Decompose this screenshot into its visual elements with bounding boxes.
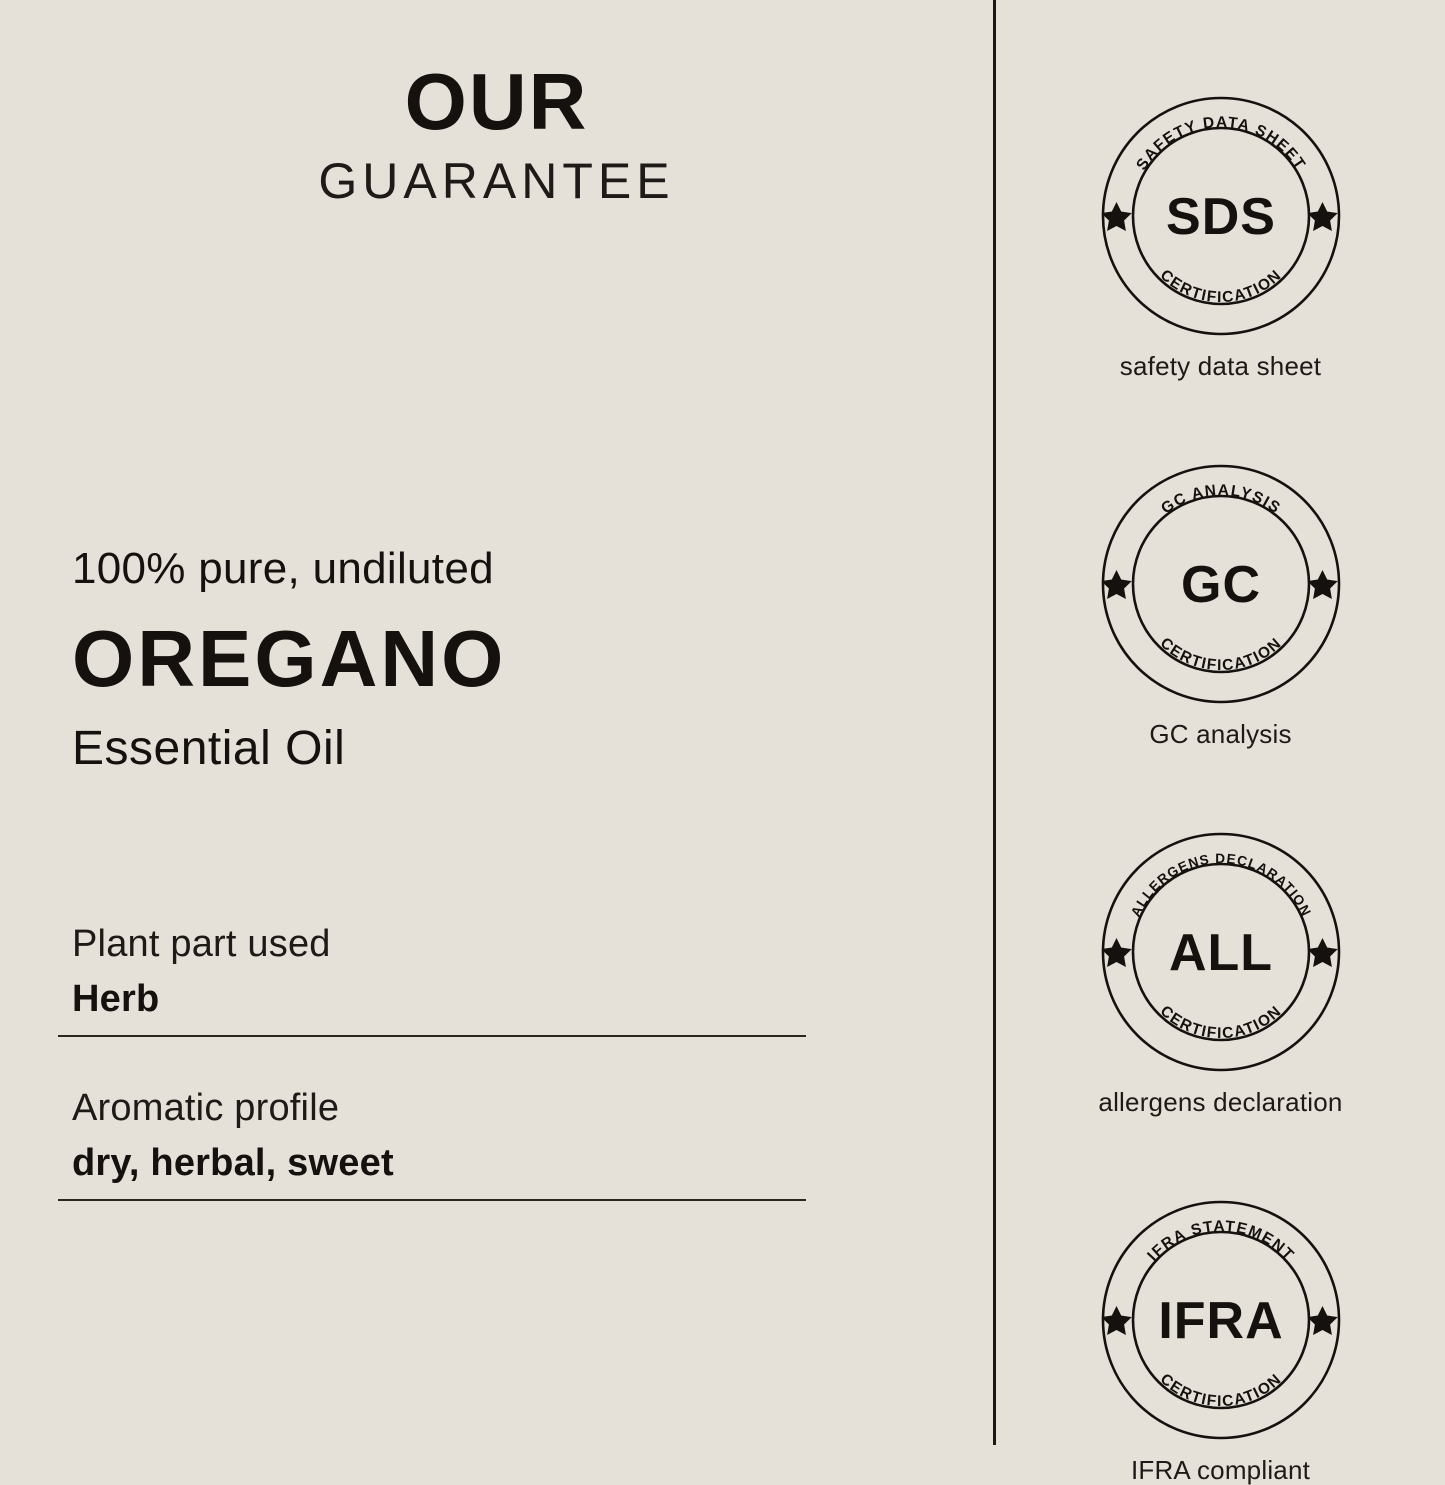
seal-bottom-text: CERTIFICATION — [1156, 1003, 1285, 1043]
svg-text:CERTIFICATION: CERTIFICATION — [1156, 267, 1285, 307]
seal-bottom-text: CERTIFICATION — [1156, 635, 1285, 675]
star-icon — [1307, 1306, 1337, 1335]
page-title-line-1: OUR — [0, 62, 993, 142]
spec-divider — [58, 1035, 806, 1037]
page-title-line-2: GUARANTEE — [0, 156, 993, 206]
svg-text:ALLERGENS DECLARATION: ALLERGENS DECLARATION — [1127, 851, 1313, 919]
star-icon — [1101, 938, 1131, 967]
svg-text:CERTIFICATION: CERTIFICATION — [1156, 635, 1285, 675]
spec-value: Herb — [58, 980, 806, 1018]
badge-caption: IFRA compliant — [996, 1457, 1445, 1483]
page-title: OUR GUARANTEE — [0, 62, 993, 206]
list-item: SAFETY DATA SHEET CERTIFICATION SDS safe… — [996, 96, 1445, 379]
star-icon — [1307, 570, 1337, 599]
spec-row: Plant part used Herb — [58, 925, 806, 1037]
badge-caption: allergens declaration — [996, 1089, 1445, 1115]
star-icon — [1101, 1306, 1131, 1335]
svg-text:CERTIFICATION: CERTIFICATION — [1156, 1371, 1285, 1411]
seal-all-icon: ALLERGENS DECLARATION CERTIFICATION ALL — [1101, 832, 1341, 1072]
seal-center-text: ALL — [1168, 924, 1272, 982]
seal-center-text: SDS — [1166, 188, 1276, 246]
seal-bottom-text: CERTIFICATION — [1156, 1371, 1285, 1411]
product-block: 100% pure, undiluted OREGANO Essential O… — [72, 545, 872, 773]
right-panel: SAFETY DATA SHEET CERTIFICATION SDS safe… — [996, 0, 1445, 1445]
certification-badge-list: SAFETY DATA SHEET CERTIFICATION SDS safe… — [996, 96, 1445, 1483]
product-type: Essential Oil — [72, 725, 872, 773]
seal-center-text: GC — [1181, 556, 1261, 614]
seal-ifra-icon: IFRA STATEMENT CERTIFICATION IFRA — [1101, 1200, 1341, 1440]
seal-gc-icon: GC ANALYSIS CERTIFICATION GC — [1101, 464, 1341, 704]
list-item: GC ANALYSIS CERTIFICATION GC GC analysis — [996, 464, 1445, 747]
seal-top-text: SAFETY DATA SHEET — [1133, 114, 1309, 173]
list-item: ALLERGENS DECLARATION CERTIFICATION ALL … — [996, 832, 1445, 1115]
spec-divider — [58, 1199, 806, 1201]
spec-row: Aromatic profile dry, herbal, sweet — [58, 1089, 806, 1201]
star-icon — [1101, 202, 1131, 231]
seal-sds-icon: SAFETY DATA SHEET CERTIFICATION SDS — [1101, 96, 1341, 336]
star-icon — [1307, 938, 1337, 967]
svg-text:IFRA STATEMENT: IFRA STATEMENT — [1144, 1218, 1297, 1264]
svg-text:CERTIFICATION: CERTIFICATION — [1156, 1003, 1285, 1043]
spec-list: Plant part used Herb Aromatic profile dr… — [58, 925, 806, 1201]
list-item: IFRA STATEMENT CERTIFICATION IFRA IFRA c… — [996, 1200, 1445, 1483]
seal-bottom-text: CERTIFICATION — [1156, 267, 1285, 307]
badge-caption: safety data sheet — [996, 353, 1445, 379]
star-icon — [1307, 202, 1337, 231]
spec-value: dry, herbal, sweet — [58, 1144, 806, 1182]
product-name: OREGANO — [72, 619, 872, 699]
seal-top-text: IFRA STATEMENT — [1144, 1218, 1297, 1264]
spec-label: Plant part used — [58, 925, 806, 963]
seal-top-text: GC ANALYSIS — [1158, 482, 1284, 518]
seal-top-text: ALLERGENS DECLARATION — [1127, 851, 1313, 919]
badge-caption: GC analysis — [996, 721, 1445, 747]
seal-center-text: IFRA — [1158, 1292, 1283, 1350]
product-purity: 100% pure, undiluted — [72, 545, 872, 593]
svg-text:SAFETY DATA SHEET: SAFETY DATA SHEET — [1133, 114, 1309, 173]
guarantee-panel: OUR GUARANTEE 100% pure, undiluted OREGA… — [0, 0, 1445, 1445]
svg-text:GC ANALYSIS: GC ANALYSIS — [1158, 482, 1284, 518]
spec-label: Aromatic profile — [58, 1089, 806, 1127]
star-icon — [1101, 570, 1131, 599]
left-panel: OUR GUARANTEE 100% pure, undiluted OREGA… — [0, 0, 993, 1445]
